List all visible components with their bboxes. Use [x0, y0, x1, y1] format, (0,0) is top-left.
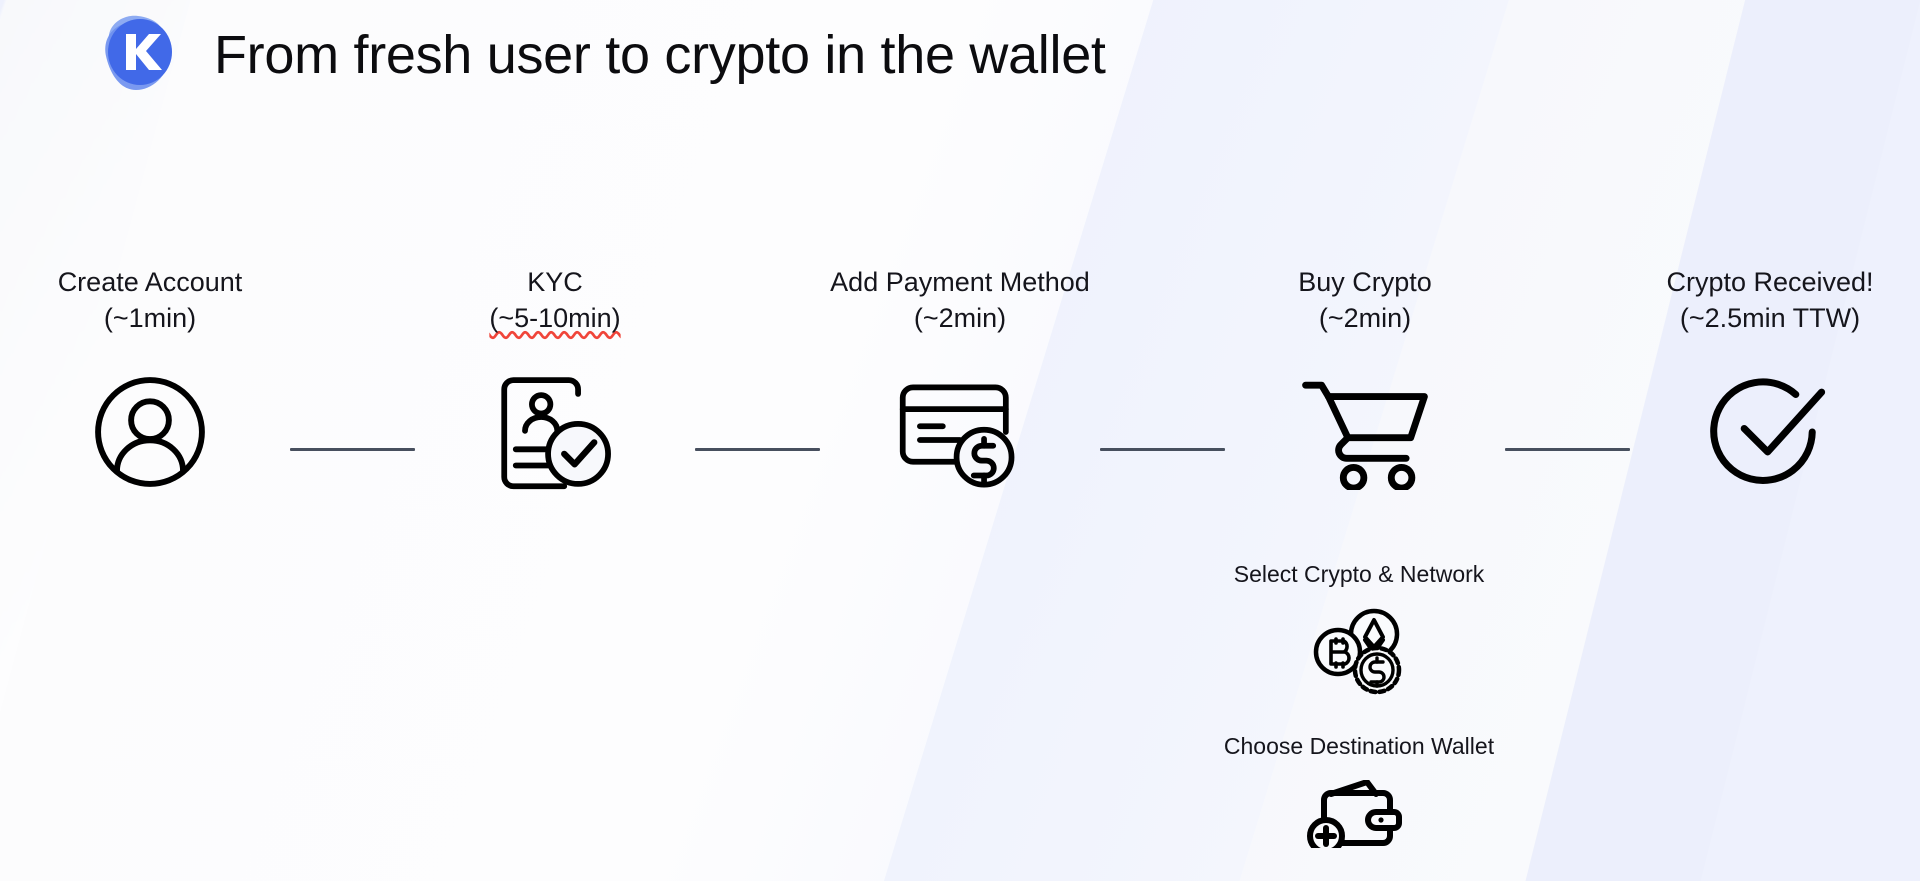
kado-k-logo-icon [88, 8, 192, 102]
wallet-add-icon [1306, 780, 1412, 848]
buy-crypto-substeps: Select Crypto & Network Choose Destinati… [1149, 560, 1569, 848]
flow-connector [1505, 448, 1630, 451]
user-circle-icon [86, 373, 214, 491]
step-label: Create Account [58, 265, 243, 301]
onboarding-flow: Create Account (~1min) KYC (~5-10min) [0, 265, 1920, 491]
check-circle-icon [1706, 373, 1834, 491]
step-label: KYC [527, 265, 583, 301]
shopping-cart-icon [1301, 373, 1429, 491]
flow-step-create-account: Create Account (~1min) [10, 265, 290, 491]
page-title: From fresh user to crypto in the wallet [214, 28, 1106, 82]
substep-label: Select Crypto & Network [1234, 560, 1485, 590]
flow-connector [1100, 448, 1225, 451]
flow-connector [290, 448, 415, 451]
flow-step-buy-crypto: Buy Crypto (~2min) [1225, 265, 1505, 491]
flow-step-kyc: KYC (~5-10min) [415, 265, 695, 491]
page-header: From fresh user to crypto in the wallet [0, 0, 1106, 110]
step-time: (~2.5min TTW) [1680, 301, 1860, 337]
flow-step-add-payment-method: Add Payment Method (~2min) [820, 265, 1100, 491]
step-time: (~1min) [104, 301, 196, 337]
step-time: (~2min) [1319, 301, 1411, 337]
substep-select-crypto-network: Select Crypto & Network [1234, 560, 1485, 696]
step-label: Crypto Received! [1666, 265, 1873, 301]
step-time: (~2min) [914, 301, 1006, 337]
substep-label: Choose Destination Wallet [1224, 732, 1494, 762]
credit-card-dollar-icon [896, 373, 1024, 491]
flow-step-crypto-received: Crypto Received! (~2.5min TTW) [1630, 265, 1910, 491]
crypto-coins-icon [1307, 608, 1411, 696]
id-card-verified-icon [491, 373, 619, 491]
substep-choose-destination-wallet: Choose Destination Wallet [1224, 732, 1494, 848]
step-label: Add Payment Method [830, 265, 1090, 301]
step-time: (~5-10min) [489, 301, 620, 337]
step-label: Buy Crypto [1298, 265, 1432, 301]
flow-connector [695, 448, 820, 451]
